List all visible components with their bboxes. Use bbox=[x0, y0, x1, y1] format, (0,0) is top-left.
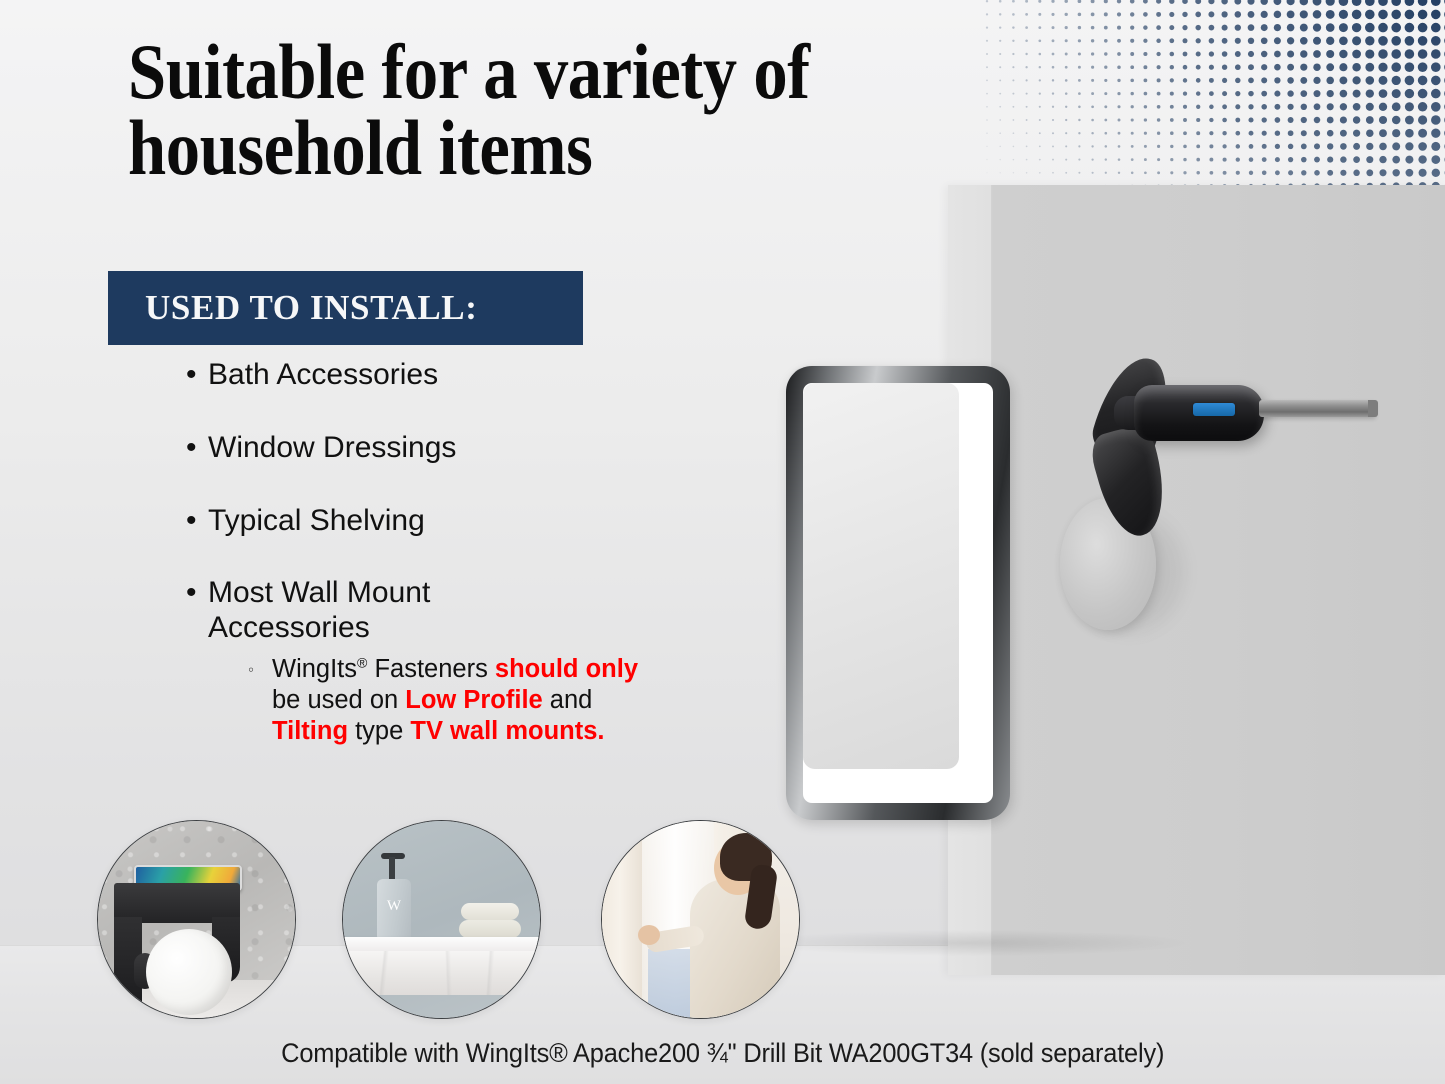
list-item-label: Typical Shelving bbox=[208, 504, 686, 539]
page-title: Suitable for a variety of household item… bbox=[128, 34, 946, 185]
photo2-towel-top bbox=[461, 903, 519, 920]
registered-trademark-icon: ® bbox=[357, 654, 367, 670]
steel-drill-shaft bbox=[1259, 400, 1375, 417]
warning-seg-8: TV wall mounts. bbox=[410, 717, 604, 745]
install-use-list: • Bath Accessories • Window Dressings • … bbox=[186, 358, 686, 747]
drill-shaft-tip bbox=[1368, 400, 1378, 417]
warning-seg-2: should only bbox=[495, 655, 638, 683]
scene-ground-shadow bbox=[756, 930, 1186, 956]
product-scene bbox=[756, 160, 1445, 960]
compatibility-caption: Compatible with WingIts® Apache200 ¾" Dr… bbox=[0, 1038, 1445, 1069]
photo-window-curtains bbox=[601, 820, 800, 1019]
photo1-toilet-paper-roll bbox=[146, 929, 232, 1015]
list-item: • Window Dressings bbox=[186, 431, 686, 466]
warning-seg-6: Tilting bbox=[272, 717, 348, 745]
sub-bullet-marker-icon: ◦ bbox=[248, 654, 272, 686]
list-item-label: Bath Accessories bbox=[208, 358, 686, 393]
list-item-label: Window Dressings bbox=[208, 431, 686, 466]
photo2-towel-bottom bbox=[459, 920, 521, 938]
warning-seg-5: and bbox=[543, 686, 593, 714]
photo3-woman-hand bbox=[638, 925, 660, 945]
photo-toilet-paper-holder bbox=[97, 820, 296, 1019]
wingits-w-logo-icon: W bbox=[385, 897, 403, 915]
warning-seg-4: Low Profile bbox=[405, 686, 542, 714]
list-item-label: Most Wall Mount Accessories bbox=[208, 576, 538, 646]
photo3-curtain-left bbox=[601, 820, 642, 1019]
bullet-marker-icon: • bbox=[186, 576, 208, 611]
infographic-canvas: Suitable for a variety of household item… bbox=[0, 0, 1445, 1084]
towel-ring-inner-area bbox=[803, 383, 959, 769]
list-item: • Most Wall Mount Accessories bbox=[186, 576, 686, 646]
blue-accent-band bbox=[1193, 403, 1235, 416]
list-item: • Typical Shelving bbox=[186, 504, 686, 539]
warning-seg-3: be used on bbox=[272, 686, 405, 714]
warning-seg-1: Fasteners bbox=[367, 655, 495, 683]
headline-line-1: Suitable for a variety of bbox=[128, 34, 946, 110]
photo-wall-shelf: W bbox=[342, 820, 541, 1019]
caption-text: Compatible with WingIts® Apache200 ¾" Dr… bbox=[281, 1038, 1164, 1069]
bullet-marker-icon: • bbox=[186, 358, 208, 393]
bullet-marker-icon: • bbox=[186, 431, 208, 466]
wall-panel bbox=[948, 185, 1445, 975]
banner-label: USED TO INSTALL: bbox=[145, 288, 478, 328]
photo2-pump-stem bbox=[389, 857, 395, 881]
sub-bullet-text: WingIts® Fasteners should only be used o… bbox=[272, 654, 668, 747]
used-to-install-banner: USED TO INSTALL: bbox=[108, 271, 583, 345]
warning-seg-7: type bbox=[348, 717, 410, 745]
bullet-marker-icon: • bbox=[186, 504, 208, 539]
photo2-shelf-front bbox=[349, 951, 535, 995]
headline-line-2: household items bbox=[128, 110, 946, 186]
tv-mount-warning-note: ◦ WingIts® Fasteners should only be used… bbox=[248, 654, 668, 747]
list-item: • Bath Accessories bbox=[186, 358, 686, 393]
brand-name: WingIts bbox=[272, 655, 357, 683]
